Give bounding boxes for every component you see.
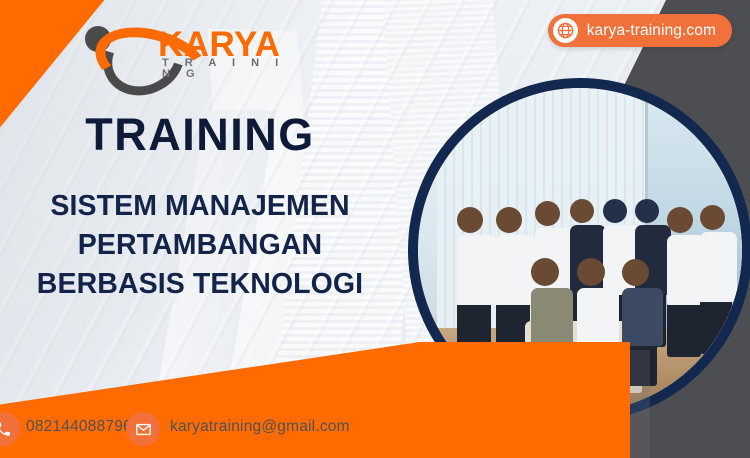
person-head xyxy=(700,205,725,230)
globe-icon xyxy=(553,18,578,43)
email-address-text: karyatraining@gmail.com xyxy=(170,418,350,436)
headline-line-3: BERBASIS TEKNOLOGI xyxy=(0,265,400,304)
person-body xyxy=(700,232,738,302)
person xyxy=(457,207,483,357)
person xyxy=(700,205,725,354)
person-head xyxy=(603,199,627,223)
person xyxy=(667,207,693,357)
envelope-icon xyxy=(126,412,160,446)
person-head xyxy=(667,207,693,233)
headline-line-2: PERTAMBANGAN xyxy=(0,226,400,265)
person-body xyxy=(622,288,663,346)
person-head xyxy=(535,201,560,226)
website-url-text: karya-training.com xyxy=(587,22,716,40)
person-legs xyxy=(667,305,701,357)
person-body xyxy=(577,288,619,346)
person-head xyxy=(496,207,522,233)
person-body xyxy=(531,288,573,346)
person-head xyxy=(622,259,649,286)
phone-number-text: 082144088796 xyxy=(26,418,132,436)
page-title: TRAINING xyxy=(0,112,400,157)
person-legs xyxy=(700,302,733,354)
headline-line-1: SISTEM MANAJEMEN xyxy=(0,187,400,226)
karya-training-logo: KARYA T R A I N I N G xyxy=(82,16,292,76)
website-badge[interactable]: karya-training.com xyxy=(548,14,732,47)
person-body xyxy=(496,235,535,305)
person-body xyxy=(457,235,496,305)
person-head xyxy=(531,258,559,286)
person-head xyxy=(577,258,605,286)
headline-block: TRAINING SISTEM MANAJEMEN PERTAMBANGAN B… xyxy=(0,112,400,303)
person xyxy=(496,207,522,357)
person-head xyxy=(457,207,483,233)
training-poster: KARYA T R A I N I N G karya-training.com… xyxy=(0,0,750,458)
person-head xyxy=(570,199,594,223)
person-head xyxy=(635,199,659,223)
logo-tagline: T R A I N I N G xyxy=(162,58,292,80)
